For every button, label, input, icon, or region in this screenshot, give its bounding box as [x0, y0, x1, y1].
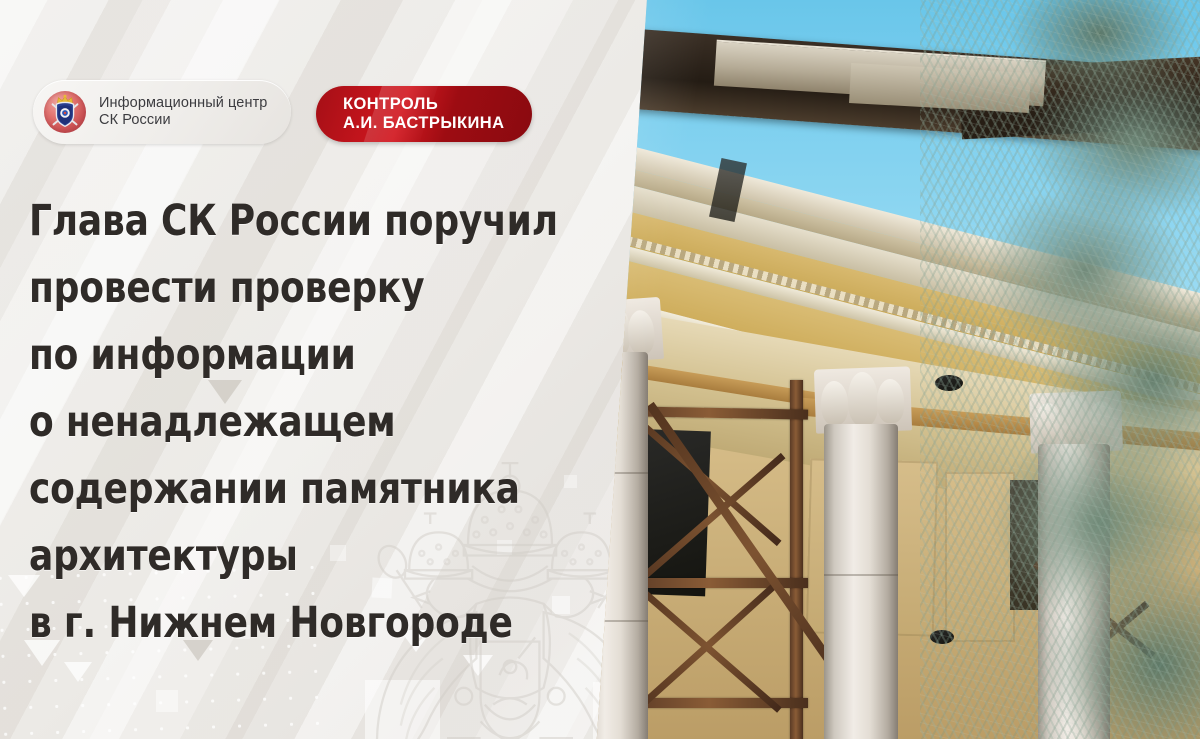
headline-line-6: архитектуры	[29, 523, 550, 590]
headline-line-7: в г. Нижнем Новгороде	[29, 590, 550, 657]
information-center-badge[interactable]: Информационный центр СК России	[33, 80, 291, 144]
headline-line-2: провести проверку	[29, 255, 550, 322]
information-center-label: Информационный центр СК России	[99, 95, 267, 130]
headline-line-1: Глава СК России поручил	[29, 188, 550, 255]
headline-line-3: по информации	[29, 322, 550, 389]
tree-needles	[920, 0, 1200, 739]
column-2	[824, 424, 898, 739]
spruce-tree	[920, 0, 1200, 739]
information-center-label-line2: СК России	[99, 112, 267, 130]
background-triangle-2	[64, 662, 92, 682]
scaffold-post-2	[790, 380, 803, 739]
information-center-label-line1: Информационный центр	[99, 95, 267, 113]
background-triangle-7	[463, 655, 493, 676]
headline-line-4: о ненадлежащем	[29, 389, 550, 456]
poster-canvas: Информационный центр СК России КОНТРОЛЬ …	[0, 0, 1200, 739]
page-title: Глава СК России поручил провести проверк…	[29, 188, 589, 657]
control-badge[interactable]: КОНТРОЛЬ А.И. БАСТРЫКИНА	[316, 86, 532, 142]
control-badge-line1: КОНТРОЛЬ	[343, 95, 505, 115]
background-square-1	[365, 680, 440, 739]
background-square-3	[156, 690, 178, 712]
sk-russia-emblem-icon	[44, 91, 86, 133]
control-badge-line2: А.И. БАСТРЫКИНА	[343, 114, 505, 134]
headline-line-5: содержании памятника	[29, 456, 550, 523]
